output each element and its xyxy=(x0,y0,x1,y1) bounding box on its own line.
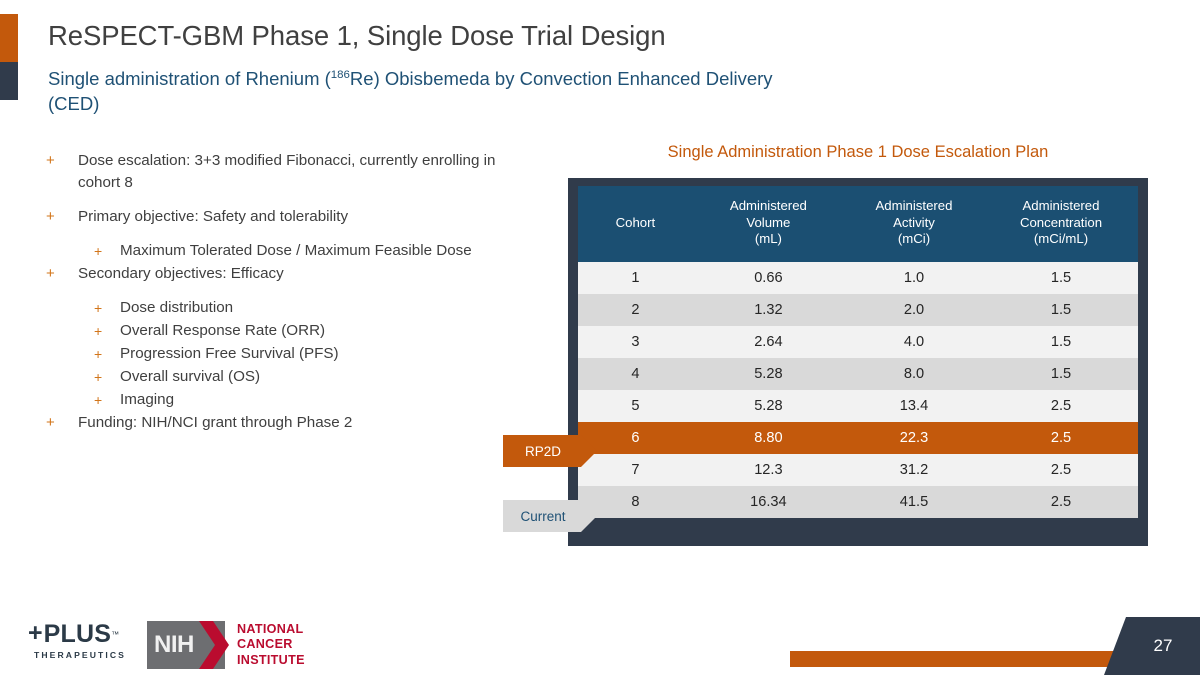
table-cell-volume: 1.32 xyxy=(693,294,844,326)
bullet-marker-icon: + xyxy=(94,343,120,365)
page-number-badge: 27 xyxy=(1104,617,1200,675)
bullet-marker-icon: + xyxy=(94,240,120,262)
table-column-header-line: Cohort xyxy=(580,215,691,232)
table-column-header: AdministeredConcentration(mCi/mL) xyxy=(984,186,1138,262)
table-cell-activity: 8.0 xyxy=(844,358,984,390)
table-cell-cohort: 4 xyxy=(578,358,693,390)
bullet-item: +Secondary objectives: Efficacy xyxy=(46,263,516,285)
bullet-text: Overall survival (OS) xyxy=(120,366,516,388)
table-cell-concentration: 2.5 xyxy=(984,486,1138,518)
nci-line-1: NATIONAL xyxy=(237,622,305,637)
table-cell-concentration: 2.5 xyxy=(984,454,1138,486)
bullet-text: Dose escalation: 3+3 modified Fibonacci,… xyxy=(78,150,516,194)
table-cell-activity: 31.2 xyxy=(844,454,984,486)
table-cell-cohort: 3 xyxy=(578,326,693,358)
bullet-item: +Maximum Tolerated Dose / Maximum Feasib… xyxy=(46,240,516,262)
plus-logo-subtitle: THERAPEUTICS xyxy=(28,650,132,660)
table-row: 68.8022.32.5 xyxy=(578,422,1138,454)
table-cell-volume: 5.28 xyxy=(693,390,844,422)
table-cell-activity: 4.0 xyxy=(844,326,984,358)
chevron-right-icon xyxy=(581,435,597,467)
table-row: 55.2813.42.5 xyxy=(578,390,1138,422)
table-column-header-line: Administered xyxy=(986,198,1136,215)
table-cell-cohort: 2 xyxy=(578,294,693,326)
subtitle-text-before: Single administration of Rhenium ( xyxy=(48,68,331,89)
callout-rp2d-label: RP2D xyxy=(503,435,581,467)
table-cell-volume: 8.80 xyxy=(693,422,844,454)
callout-current: Current xyxy=(503,500,597,532)
table-cell-activity: 13.4 xyxy=(844,390,984,422)
dose-escalation-table-frame: CohortAdministeredVolume(mL)Administered… xyxy=(568,178,1148,546)
table-column-header-line: (mCi/mL) xyxy=(986,231,1136,248)
table-cell-volume: 0.66 xyxy=(693,262,844,294)
table-cell-activity: 2.0 xyxy=(844,294,984,326)
table-row: 21.322.01.5 xyxy=(578,294,1138,326)
table-cell-concentration: 1.5 xyxy=(984,326,1138,358)
bullet-marker-icon: + xyxy=(94,366,120,388)
table-cell-cohort: 5 xyxy=(578,390,693,422)
table-column-header-line: Activity xyxy=(846,215,982,232)
footer-orange-bar xyxy=(790,651,1135,667)
table-cell-concentration: 2.5 xyxy=(984,422,1138,454)
bullet-marker-icon: + xyxy=(94,320,120,342)
nih-logo-text: NIH xyxy=(154,633,194,657)
bullet-marker-icon: + xyxy=(46,412,78,434)
table-column-header-line: Concentration xyxy=(986,215,1136,232)
table-header-row: CohortAdministeredVolume(mL)Administered… xyxy=(578,186,1138,262)
bullet-text: Dose distribution xyxy=(120,297,516,319)
table-column-header: AdministeredActivity(mCi) xyxy=(844,186,984,262)
bullet-item: +Overall Response Rate (ORR) xyxy=(46,320,516,342)
table-row: 10.661.01.5 xyxy=(578,262,1138,294)
table-column-header-line: (mCi) xyxy=(846,231,982,248)
bullet-item: +Dose distribution xyxy=(46,297,516,319)
table-column-header: Cohort xyxy=(578,186,693,262)
table-column-header-line: Administered xyxy=(846,198,982,215)
table-cell-activity: 41.5 xyxy=(844,486,984,518)
table-column-header-line: (mL) xyxy=(695,231,842,248)
bullet-marker-icon: + xyxy=(46,263,78,285)
bullet-item: +Primary objective: Safety and tolerabil… xyxy=(46,206,516,228)
plus-icon: + xyxy=(28,621,43,646)
bullet-text: Overall Response Rate (ORR) xyxy=(120,320,516,342)
table-cell-concentration: 1.5 xyxy=(984,294,1138,326)
plus-therapeutics-logo: + PLUS ™ THERAPEUTICS xyxy=(28,622,132,660)
table-body: 10.661.01.521.322.01.532.644.01.545.288.… xyxy=(578,262,1138,518)
dose-escalation-table: CohortAdministeredVolume(mL)Administered… xyxy=(578,186,1138,518)
table-cell-volume: 16.34 xyxy=(693,486,844,518)
bullet-item: +Progression Free Survival (PFS) xyxy=(46,343,516,365)
table-cell-volume: 12.3 xyxy=(693,454,844,486)
bullet-text: Maximum Tolerated Dose / Maximum Feasibl… xyxy=(120,240,516,262)
nih-logo-mark: NIH xyxy=(147,621,225,669)
chevron-right-icon xyxy=(581,500,597,532)
table-row: 32.644.01.5 xyxy=(578,326,1138,358)
table-column-header-line: Volume xyxy=(695,215,842,232)
table-row: 816.3441.52.5 xyxy=(578,486,1138,518)
left-accent-bar xyxy=(0,14,18,100)
bullet-text: Primary objective: Safety and tolerabili… xyxy=(78,206,516,228)
table-head: CohortAdministeredVolume(mL)Administered… xyxy=(578,186,1138,262)
bullet-marker-icon: + xyxy=(46,206,78,228)
plus-logo-wordmark: + PLUS ™ xyxy=(28,622,132,647)
bullet-text: Secondary objectives: Efficacy xyxy=(78,263,516,285)
page-title: ReSPECT-GBM Phase 1, Single Dose Trial D… xyxy=(48,20,1048,52)
table-column-header: AdministeredVolume(mL) xyxy=(693,186,844,262)
bullet-text: Funding: NIH/NCI grant through Phase 2 xyxy=(78,412,516,434)
bullet-text: Progression Free Survival (PFS) xyxy=(120,343,516,365)
nci-line-3: INSTITUTE xyxy=(237,653,305,668)
bullet-marker-icon: + xyxy=(94,297,120,319)
page-subtitle: Single administration of Rhenium (186Re)… xyxy=(48,66,778,116)
table-cell-volume: 5.28 xyxy=(693,358,844,390)
nci-logo-words: NATIONAL CANCER INSTITUTE xyxy=(237,622,305,668)
callout-rp2d: RP2D xyxy=(503,435,597,467)
table-cell-cohort: 1 xyxy=(578,262,693,294)
bullet-item: +Overall survival (OS) xyxy=(46,366,516,388)
table-cell-volume: 2.64 xyxy=(693,326,844,358)
table-cell-activity: 1.0 xyxy=(844,262,984,294)
nci-line-2: CANCER xyxy=(237,637,305,652)
nih-nci-logo: NIH NATIONAL CANCER INSTITUTE xyxy=(147,621,305,669)
chevron-right-icon xyxy=(199,621,229,669)
bullet-item: +Imaging xyxy=(46,389,516,411)
table-cell-concentration: 1.5 xyxy=(984,262,1138,294)
table-cell-activity: 22.3 xyxy=(844,422,984,454)
table-cell-concentration: 1.5 xyxy=(984,358,1138,390)
bullet-marker-icon: + xyxy=(94,389,120,411)
table-column-header-line: Administered xyxy=(695,198,842,215)
trademark-icon: ™ xyxy=(111,630,119,639)
table-caption: Single Administration Phase 1 Dose Escal… xyxy=(568,143,1148,162)
accent-segment-navy xyxy=(0,62,18,100)
bullet-text: Imaging xyxy=(120,389,516,411)
bullet-item: +Dose escalation: 3+3 modified Fibonacci… xyxy=(46,150,516,194)
bullet-list: +Dose escalation: 3+3 modified Fibonacci… xyxy=(46,150,516,446)
plus-logo-word: PLUS xyxy=(44,622,111,647)
table-row: 712.331.22.5 xyxy=(578,454,1138,486)
isotope-superscript: 186 xyxy=(331,69,350,81)
callout-current-label: Current xyxy=(503,500,581,532)
accent-segment-orange xyxy=(0,14,18,62)
bullet-marker-icon: + xyxy=(46,150,78,172)
table-row: 45.288.01.5 xyxy=(578,358,1138,390)
bullet-item: +Funding: NIH/NCI grant through Phase 2 xyxy=(46,412,516,434)
table-cell-concentration: 2.5 xyxy=(984,390,1138,422)
